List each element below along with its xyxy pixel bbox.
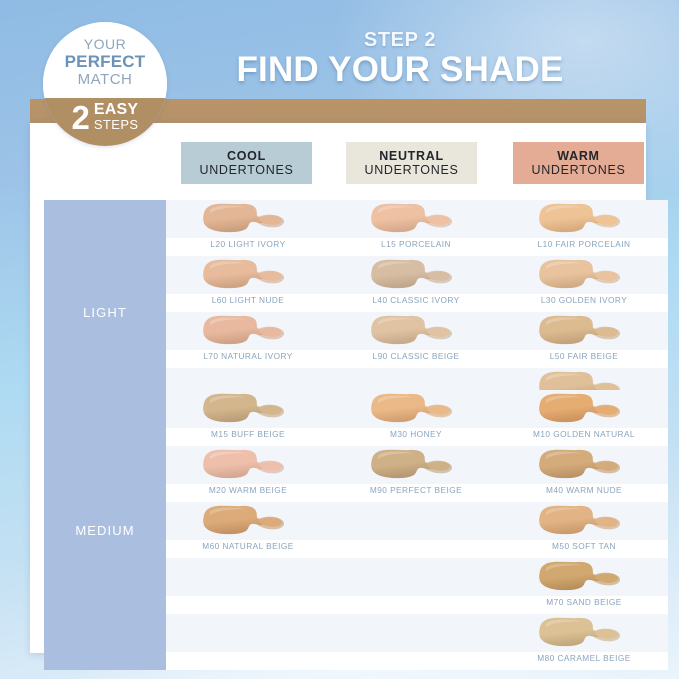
shade-swatch-l10[interactable] — [502, 200, 666, 238]
foundation-smear-icon — [194, 313, 290, 349]
foundation-smear-icon — [530, 313, 626, 349]
foundation-smear-icon — [530, 559, 626, 595]
page-title: FIND YOUR SHADE — [160, 50, 640, 90]
shade-label-m30: M30 HONEY — [334, 428, 498, 446]
badge-top-half: YOUR PERFECT MATCH — [43, 22, 167, 98]
shade-label-m15: M15 BUFF BEIGE — [166, 428, 330, 446]
shade-label-m70: M70 SAND BEIGE — [502, 596, 666, 614]
badge-easy-text: EASY — [94, 102, 138, 118]
shade-label-m50: M50 SOFT TAN — [502, 540, 666, 558]
shade-swatch-l15[interactable] — [334, 200, 498, 238]
foundation-smear-icon — [530, 391, 626, 427]
shade-label-empty — [334, 596, 498, 614]
shade-label-m10: M10 GOLDEN NATURAL — [502, 428, 666, 446]
badge-perfect-text: PERFECT — [65, 52, 146, 71]
undertone-neutral-sub: UNDERTONES — [364, 163, 458, 178]
swatch-row — [166, 558, 668, 596]
foundation-smear-icon — [530, 201, 626, 237]
shade-label-m60: M60 NATURAL BEIGE — [166, 540, 330, 558]
foundation-smear-icon — [362, 313, 458, 349]
shade-swatch-m50[interactable] — [502, 502, 666, 540]
undertone-neutral-name: NEUTRAL — [379, 149, 444, 163]
label-row: L20 LIGHT IVORYL15 PORCELAINL10 FAIR POR… — [166, 238, 668, 256]
foundation-smear-icon — [194, 391, 290, 427]
shade-swatch-m70[interactable] — [502, 558, 666, 596]
foundation-smear-icon — [530, 615, 626, 651]
label-row: L70 NATURAL IVORYL90 CLASSIC BEIGEL50 FA… — [166, 350, 668, 368]
shade-swatch-empty — [166, 614, 330, 652]
swatch-row — [166, 614, 668, 652]
shade-swatch-m60[interactable] — [166, 502, 330, 540]
shade-swatch-m10[interactable] — [502, 390, 666, 428]
badge-steps-text: STEPS — [94, 118, 139, 132]
badge-bottom-half: 2 EASY STEPS — [43, 98, 167, 146]
swatch-row — [166, 200, 668, 238]
badge-match-text: MATCH — [78, 71, 133, 88]
shade-swatch-l30[interactable] — [502, 256, 666, 294]
foundation-smear-icon — [194, 201, 290, 237]
shade-swatch-l90[interactable] — [334, 312, 498, 350]
shade-label-l10: L10 FAIR PORCELAIN — [502, 238, 666, 256]
foundation-smear-icon — [362, 447, 458, 483]
foundation-smear-icon — [362, 391, 458, 427]
shade-swatch-empty — [334, 558, 498, 596]
badge-step-number: 2 — [72, 101, 90, 134]
badge-step-words: EASY STEPS — [94, 101, 139, 132]
swatch-row — [166, 256, 668, 294]
swatch-row — [166, 312, 668, 350]
infographic-canvas: STEP 2 FIND YOUR SHADE YOUR PERFECT MATC… — [0, 0, 679, 679]
foundation-smear-icon — [362, 257, 458, 293]
foundation-smear-icon — [530, 447, 626, 483]
shade-label-l40: L40 CLASSIC IVORY — [334, 294, 498, 312]
undertone-cool-sub: UNDERTONES — [199, 163, 293, 178]
shade-swatch-empty — [334, 614, 498, 652]
shade-label-l30: L30 GOLDEN IVORY — [502, 294, 666, 312]
shade-swatch-empty — [334, 502, 498, 540]
shade-swatch-m30[interactable] — [334, 390, 498, 428]
label-row: M20 WARM BEIGEM90 PERFECT BEIGEM40 WARM … — [166, 484, 668, 502]
foundation-smear-icon — [194, 447, 290, 483]
shade-label-l50: L50 FAIR BEIGE — [502, 350, 666, 368]
perfect-match-badge: YOUR PERFECT MATCH 2 EASY STEPS — [43, 22, 167, 146]
step-label: STEP 2 — [190, 29, 610, 52]
shade-label-l60: L60 LIGHT NUDE — [166, 294, 330, 312]
shade-swatch-l20[interactable] — [166, 200, 330, 238]
foundation-smear-icon — [530, 503, 626, 539]
undertone-header-warm[interactable]: WARM UNDERTONES — [513, 142, 644, 184]
shade-label-l15: L15 PORCELAIN — [334, 238, 498, 256]
foundation-smear-icon — [530, 257, 626, 293]
shade-label-empty — [334, 652, 498, 670]
shade-label-m20: M20 WARM BEIGE — [166, 484, 330, 502]
undertone-warm-sub: UNDERTONES — [531, 163, 625, 178]
shade-label-empty — [334, 540, 498, 558]
label-row: M70 SAND BEIGE — [166, 596, 668, 614]
undertone-cool-name: COOL — [227, 149, 266, 163]
group-label-medium: MEDIUM — [44, 390, 166, 670]
shade-label-l20: L20 LIGHT IVORY — [166, 238, 330, 256]
foundation-smear-icon — [194, 503, 290, 539]
shade-swatch-empty — [166, 558, 330, 596]
undertone-warm-name: WARM — [557, 149, 599, 163]
foundation-smear-icon — [194, 257, 290, 293]
label-row: M80 CARAMEL BEIGE — [166, 652, 668, 670]
badge-your-text: YOUR — [84, 37, 126, 52]
undertone-header-cool[interactable]: COOL UNDERTONES — [181, 142, 312, 184]
shade-label-l90: L90 CLASSIC BEIGE — [334, 350, 498, 368]
shade-label-empty — [166, 652, 330, 670]
shade-swatch-m15[interactable] — [166, 390, 330, 428]
label-row: M15 BUFF BEIGEM30 HONEYM10 GOLDEN NATURA… — [166, 428, 668, 446]
shade-label-m90: M90 PERFECT BEIGE — [334, 484, 498, 502]
swatch-row — [166, 502, 668, 540]
shade-label-m80: M80 CARAMEL BEIGE — [502, 652, 666, 670]
shade-swatch-l60[interactable] — [166, 256, 330, 294]
shade-label-m40: M40 WARM NUDE — [502, 484, 666, 502]
shade-swatch-m20[interactable] — [166, 446, 330, 484]
shade-swatch-m40[interactable] — [502, 446, 666, 484]
group-rows: M15 BUFF BEIGEM30 HONEYM10 GOLDEN NATURA… — [166, 390, 668, 670]
swatch-row — [166, 390, 668, 428]
label-row: M60 NATURAL BEIGEM50 SOFT TAN — [166, 540, 668, 558]
shade-swatch-m90[interactable] — [334, 446, 498, 484]
foundation-smear-icon — [362, 201, 458, 237]
shade-label-empty — [166, 596, 330, 614]
label-row: L60 LIGHT NUDEL40 CLASSIC IVORYL30 GOLDE… — [166, 294, 668, 312]
shade-swatch-l40[interactable] — [334, 256, 498, 294]
swatch-row — [166, 446, 668, 484]
undertone-header-neutral[interactable]: NEUTRAL UNDERTONES — [346, 142, 477, 184]
shade-label-l70: L70 NATURAL IVORY — [166, 350, 330, 368]
shade-swatch-l70[interactable] — [166, 312, 330, 350]
shade-swatch-l50[interactable] — [502, 312, 666, 350]
shade-swatch-m80[interactable] — [502, 614, 666, 652]
